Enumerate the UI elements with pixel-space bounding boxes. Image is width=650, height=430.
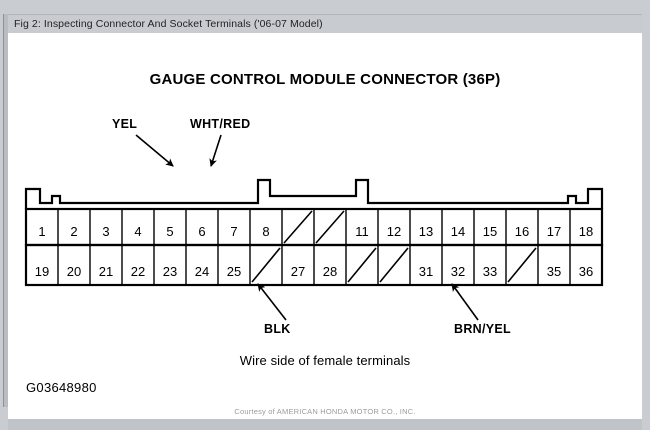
pin-cell-2: 2 <box>70 224 77 239</box>
pin-cell-14: 14 <box>451 224 465 239</box>
pin-cell-12: 12 <box>387 224 401 239</box>
pin-cell-35: 35 <box>547 264 561 279</box>
pin-cell-13: 13 <box>419 224 433 239</box>
pin-cell-3: 3 <box>102 224 109 239</box>
pin-cell-16: 16 <box>515 224 529 239</box>
pin-cell-19: 19 <box>35 264 49 279</box>
pin-cell-8: 8 <box>262 224 269 239</box>
connector-svg: 123456781112131415161718 192021222324252… <box>8 33 642 407</box>
pin-cell-27: 27 <box>291 264 305 279</box>
pin-cell-31: 31 <box>419 264 433 279</box>
figure-titlebar: Fig 2: Inspecting Connector And Socket T… <box>8 14 642 33</box>
diagram-caption: Wire side of female terminals <box>8 353 642 368</box>
pin-cell-22: 22 <box>131 264 145 279</box>
courtesy-text: Courtesy of AMERICAN HONDA MOTOR CO., IN… <box>8 407 642 416</box>
figure-titlebar-caption: Fig 2: Inspecting Connector And Socket T… <box>8 18 323 30</box>
pin-cell-25: 25 <box>227 264 241 279</box>
pin-cell-17: 17 <box>547 224 561 239</box>
pin-cell-4: 4 <box>134 224 141 239</box>
pin-cell-7: 7 <box>230 224 237 239</box>
pin-cell-11: 11 <box>355 224 369 239</box>
pin-cell-1: 1 <box>38 224 45 239</box>
pin-cell-5: 5 <box>166 224 173 239</box>
pin-cell-33: 33 <box>483 264 497 279</box>
pin-cell-21: 21 <box>99 264 113 279</box>
footer-bar <box>8 419 642 430</box>
pin-cell-20: 20 <box>67 264 81 279</box>
connector-diagram: GAUGE CONTROL MODULE CONNECTOR (36P) YEL… <box>8 33 642 407</box>
figure-id-code: G03648980 <box>26 380 97 395</box>
pin-cell-36: 36 <box>579 264 593 279</box>
pin-cell-32: 32 <box>451 264 465 279</box>
pin-cell-15: 15 <box>483 224 497 239</box>
pin-cell-18: 18 <box>579 224 593 239</box>
pin-cell-28: 28 <box>323 264 337 279</box>
pin-cell-24: 24 <box>195 264 209 279</box>
pin-cell-23: 23 <box>163 264 177 279</box>
figure-sheet: GAUGE CONTROL MODULE CONNECTOR (36P) YEL… <box>8 33 642 407</box>
pin-cell-6: 6 <box>198 224 205 239</box>
screenshot-root: Fig 2: Inspecting Connector And Socket T… <box>0 0 650 430</box>
